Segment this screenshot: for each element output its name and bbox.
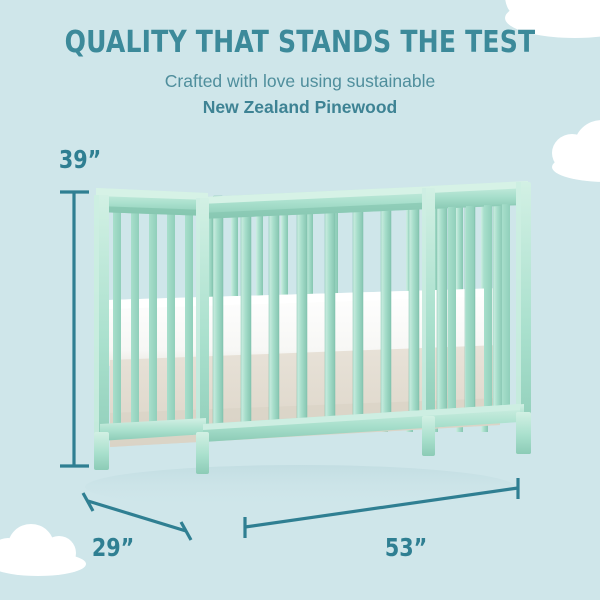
dimension-label-width: 53”	[385, 533, 427, 562]
dimension-label-height: 39”	[59, 145, 101, 174]
floor-shadow	[85, 465, 515, 509]
infographic-canvas: QUALITY THAT STANDS THE TEST Crafted wit…	[0, 0, 600, 600]
crib-illustration	[0, 0, 600, 600]
dimension-label-depth: 29”	[92, 533, 134, 562]
